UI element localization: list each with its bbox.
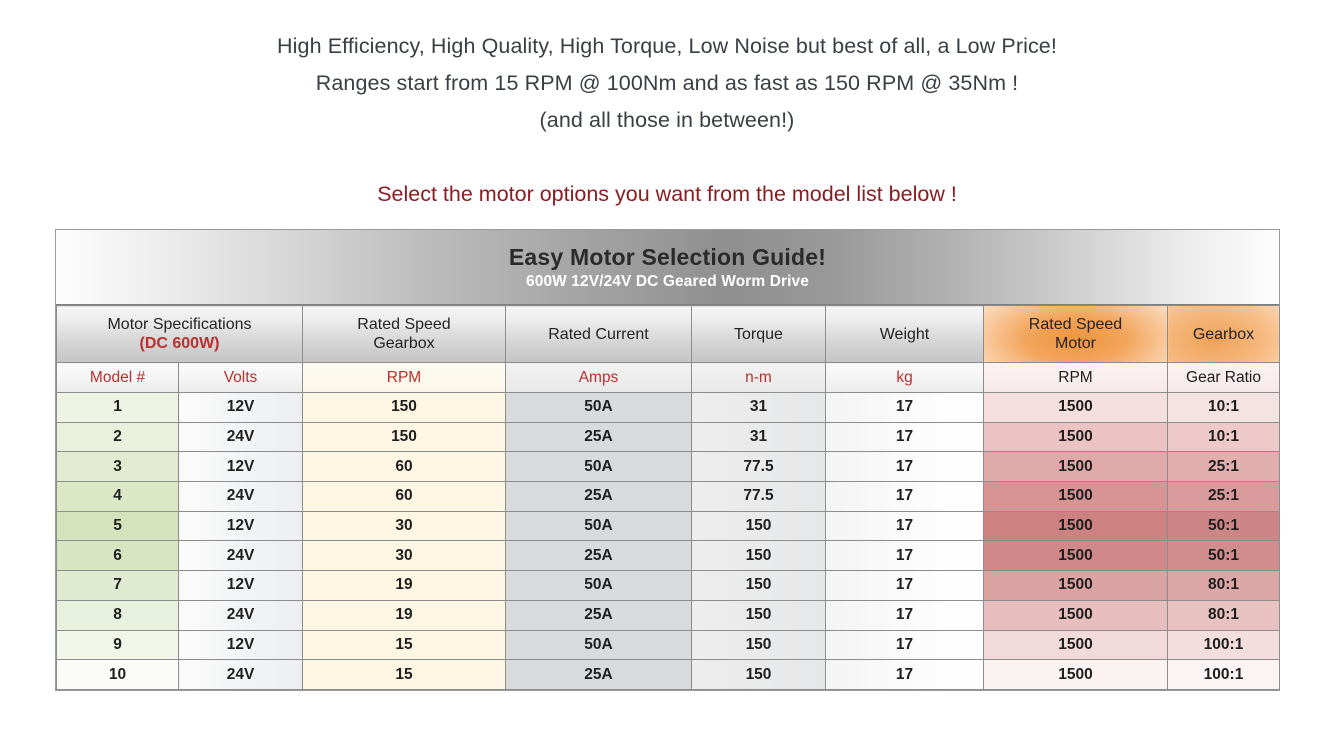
group-header-label: Motor Specifications (57, 315, 302, 334)
cell-torque: 150 (692, 630, 826, 660)
cell-rpm-motor: 1500 (984, 422, 1168, 452)
cell-gear-ratio: 25:1 (1168, 482, 1280, 512)
group-header-sublabel: Gearbox (303, 334, 505, 353)
cell-rpm-gearbox: 19 (303, 600, 506, 630)
table-row[interactable]: 512V3050A15017150050:1 (57, 511, 1280, 541)
cell-torque: 150 (692, 511, 826, 541)
cell-volts: 24V (179, 541, 303, 571)
table-row[interactable]: 624V3025A15017150050:1 (57, 541, 1280, 571)
table-row[interactable]: 712V1950A15017150080:1 (57, 571, 1280, 601)
cell-volts: 24V (179, 422, 303, 452)
cell-model: 5 (57, 511, 179, 541)
group-header-rated-current: Rated Current (506, 306, 692, 363)
cell-weight: 17 (826, 482, 984, 512)
cell-gear-ratio: 80:1 (1168, 600, 1280, 630)
sub-header-row: Model #VoltsRPMAmpsn-mkgRPMGear Ratio (57, 363, 1280, 393)
cell-weight: 17 (826, 422, 984, 452)
cell-volts: 12V (179, 571, 303, 601)
cell-torque: 31 (692, 393, 826, 423)
cell-rpm-gearbox: 150 (303, 422, 506, 452)
group-header-sublabel: Motor (984, 334, 1167, 353)
cell-weight: 17 (826, 541, 984, 571)
table-row[interactable]: 424V6025A77.517150025:1 (57, 482, 1280, 512)
cell-model: 9 (57, 630, 179, 660)
cell-volts: 12V (179, 511, 303, 541)
group-header-torque: Torque (692, 306, 826, 363)
sub-header-amps: Amps (506, 363, 692, 393)
cell-torque: 77.5 (692, 452, 826, 482)
sub-header-gear-ratio: Gear Ratio (1168, 363, 1280, 393)
cell-gear-ratio: 80:1 (1168, 571, 1280, 601)
sub-header-rpm-motor: RPM (984, 363, 1168, 393)
cell-torque: 150 (692, 541, 826, 571)
cell-rpm-motor: 1500 (984, 660, 1168, 690)
table-banner: Easy Motor Selection Guide! 600W 12V/24V… (56, 230, 1279, 305)
table-row[interactable]: 824V1925A15017150080:1 (57, 600, 1280, 630)
banner-title: Easy Motor Selection Guide! (509, 243, 826, 271)
cell-gear-ratio: 100:1 (1168, 660, 1280, 690)
banner-subtitle: 600W 12V/24V DC Geared Worm Drive (526, 271, 809, 292)
spec-table: Motor Specifications(DC 600W)Rated Speed… (56, 305, 1280, 690)
cell-rpm-motor: 1500 (984, 452, 1168, 482)
cell-volts: 24V (179, 600, 303, 630)
cell-volts: 12V (179, 630, 303, 660)
sub-header-model: Model # (57, 363, 179, 393)
group-header-sublabel: (DC 600W) (57, 334, 302, 353)
cell-rpm-gearbox: 15 (303, 660, 506, 690)
cell-gear-ratio: 10:1 (1168, 422, 1280, 452)
cell-weight: 17 (826, 600, 984, 630)
cell-rpm-motor: 1500 (984, 571, 1168, 601)
table-row[interactable]: 224V15025A3117150010:1 (57, 422, 1280, 452)
cell-gear-ratio: 100:1 (1168, 630, 1280, 660)
group-header-label: Rated Speed (984, 315, 1167, 334)
group-header-motor-specifications: Motor Specifications(DC 600W) (57, 306, 303, 363)
cell-weight: 17 (826, 660, 984, 690)
cell-amps: 25A (506, 660, 692, 690)
cell-rpm-motor: 1500 (984, 600, 1168, 630)
cell-model: 4 (57, 482, 179, 512)
cell-gear-ratio: 50:1 (1168, 511, 1280, 541)
cell-volts: 24V (179, 660, 303, 690)
group-header-label: Torque (692, 325, 825, 344)
cell-rpm-gearbox: 19 (303, 571, 506, 601)
cell-amps: 50A (506, 511, 692, 541)
group-header-gearbox: Gearbox (1168, 306, 1280, 363)
cell-torque: 31 (692, 422, 826, 452)
cell-volts: 24V (179, 482, 303, 512)
sub-header-torque: n-m (692, 363, 826, 393)
cell-rpm-motor: 1500 (984, 393, 1168, 423)
group-header-label: Gearbox (1168, 325, 1279, 344)
cell-torque: 77.5 (692, 482, 826, 512)
cell-rpm-motor: 1500 (984, 630, 1168, 660)
cell-rpm-gearbox: 60 (303, 452, 506, 482)
group-header-weight: Weight (826, 306, 984, 363)
cell-amps: 50A (506, 393, 692, 423)
cell-rpm-gearbox: 30 (303, 511, 506, 541)
table-row[interactable]: 312V6050A77.517150025:1 (57, 452, 1280, 482)
cell-rpm-gearbox: 30 (303, 541, 506, 571)
cell-amps: 25A (506, 600, 692, 630)
cell-model: 1 (57, 393, 179, 423)
cell-weight: 17 (826, 393, 984, 423)
cell-volts: 12V (179, 393, 303, 423)
cell-amps: 50A (506, 630, 692, 660)
cell-model: 3 (57, 452, 179, 482)
cell-gear-ratio: 50:1 (1168, 541, 1280, 571)
cell-amps: 50A (506, 452, 692, 482)
cell-weight: 17 (826, 571, 984, 601)
cell-rpm-motor: 1500 (984, 482, 1168, 512)
cell-weight: 17 (826, 452, 984, 482)
table-row[interactable]: 1024V1525A150171500100:1 (57, 660, 1280, 690)
cell-rpm-gearbox: 150 (303, 393, 506, 423)
cell-torque: 150 (692, 660, 826, 690)
group-header-label: Rated Speed (303, 315, 505, 334)
cell-model: 10 (57, 660, 179, 690)
cell-torque: 150 (692, 600, 826, 630)
cell-amps: 25A (506, 422, 692, 452)
motor-selection-table: Easy Motor Selection Guide! 600W 12V/24V… (55, 229, 1280, 691)
cell-model: 7 (57, 571, 179, 601)
sub-header-weight: kg (826, 363, 984, 393)
selection-callout: Select the motor options you want from t… (0, 182, 1334, 207)
cell-model: 8 (57, 600, 179, 630)
cell-weight: 17 (826, 630, 984, 660)
intro-line-2: Ranges start from 15 RPM @ 100Nm and as … (0, 65, 1334, 102)
cell-amps: 50A (506, 571, 692, 601)
group-header-label: Rated Current (506, 325, 691, 344)
cell-model: 6 (57, 541, 179, 571)
cell-gear-ratio: 25:1 (1168, 452, 1280, 482)
cell-rpm-motor: 1500 (984, 541, 1168, 571)
cell-model: 2 (57, 422, 179, 452)
sub-header-volts: Volts (179, 363, 303, 393)
group-header-row: Motor Specifications(DC 600W)Rated Speed… (57, 306, 1280, 363)
group-header-rated-speed: Rated SpeedGearbox (303, 306, 506, 363)
intro-block: High Efficiency, High Quality, High Torq… (0, 28, 1334, 139)
group-header-label: Weight (826, 325, 983, 344)
cell-rpm-motor: 1500 (984, 511, 1168, 541)
table-row[interactable]: 112V15050A3117150010:1 (57, 393, 1280, 423)
cell-weight: 17 (826, 511, 984, 541)
intro-line-3: (and all those in between!) (0, 102, 1334, 139)
table-row[interactable]: 912V1550A150171500100:1 (57, 630, 1280, 660)
cell-gear-ratio: 10:1 (1168, 393, 1280, 423)
cell-amps: 25A (506, 482, 692, 512)
group-header-rated-speed: Rated SpeedMotor (984, 306, 1168, 363)
cell-volts: 12V (179, 452, 303, 482)
table-body: 112V15050A3117150010:1224V15025A31171500… (57, 393, 1280, 690)
cell-rpm-gearbox: 15 (303, 630, 506, 660)
sub-header-rpm-gearbox: RPM (303, 363, 506, 393)
cell-rpm-gearbox: 60 (303, 482, 506, 512)
cell-amps: 25A (506, 541, 692, 571)
cell-torque: 150 (692, 571, 826, 601)
intro-line-1: High Efficiency, High Quality, High Torq… (0, 28, 1334, 65)
